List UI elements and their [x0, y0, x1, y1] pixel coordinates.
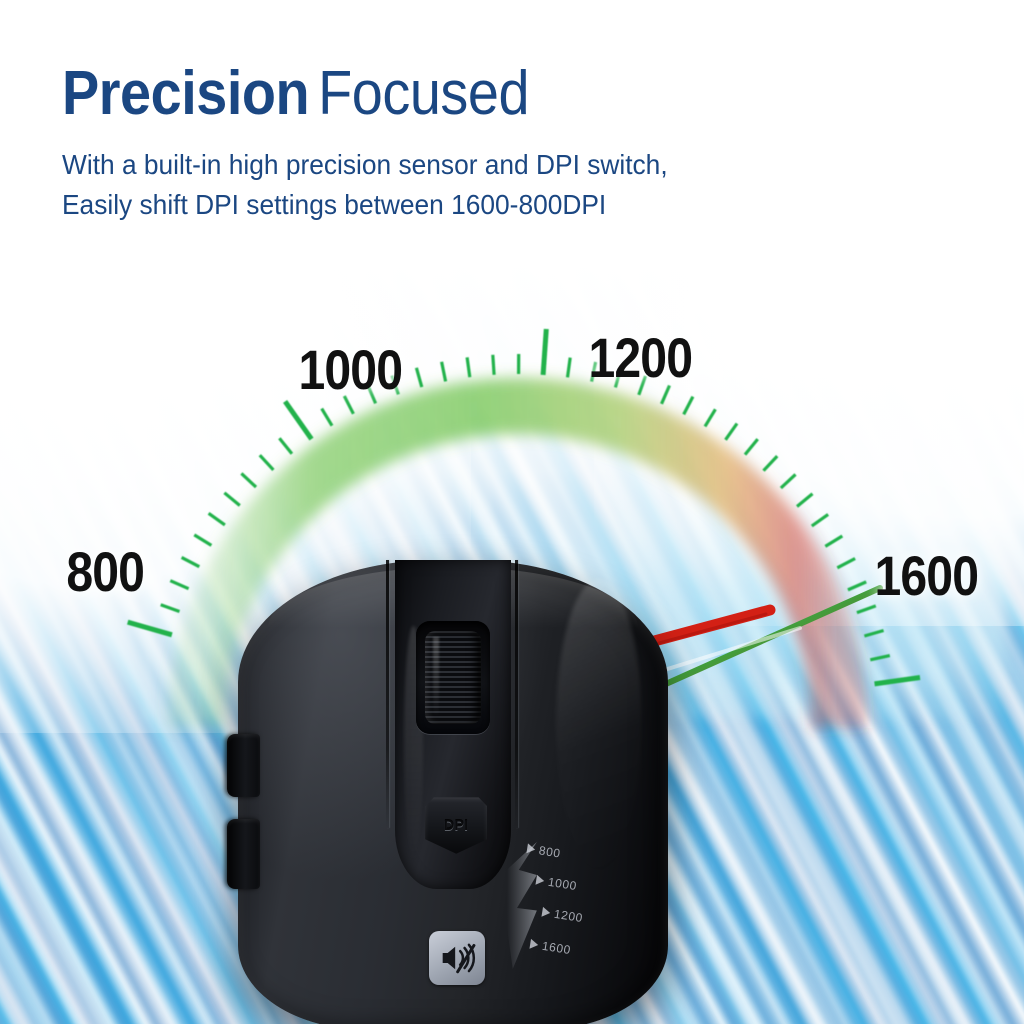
shell-bottom-fade	[238, 976, 668, 1024]
scroll-wheel[interactable]	[425, 631, 481, 724]
speaker-mute-icon	[437, 938, 478, 978]
dpi-step-1000-label: 1000	[547, 875, 578, 893]
side-button-forward[interactable]	[227, 734, 259, 797]
left-button-seam	[386, 560, 389, 828]
header-text-block: PrecisionFocused With a built-in high pr…	[62, 62, 962, 225]
chevron-right-icon	[541, 907, 550, 918]
scroll-wheel-well[interactable]	[416, 621, 489, 734]
headline-strong: Precision	[62, 59, 309, 128]
gauge-label-800: 800	[66, 544, 144, 600]
headline-light: Focused	[318, 59, 529, 128]
dpi-step-800: 800	[527, 842, 563, 861]
dpi-step-1600-label: 1600	[541, 938, 572, 956]
subtitle-line-1: With a built-in high precision sensor an…	[62, 145, 908, 185]
subtitle-line-2: Easily shift DPI settings between 1600-8…	[62, 185, 908, 225]
chevron-right-icon	[527, 844, 536, 855]
dpi-step-800-label: 800	[538, 844, 562, 861]
dpi-step-1600: 1600	[529, 937, 572, 957]
mouse-product: DPI 800 1000 1200 1600	[238, 560, 668, 1024]
side-button-back[interactable]	[227, 819, 259, 890]
page-title: PrecisionFocused	[62, 62, 872, 125]
chevron-right-icon	[530, 938, 539, 949]
gauge-label-1200: 1200	[588, 330, 692, 386]
promo-banner: PrecisionFocused With a built-in high pr…	[0, 0, 1024, 1024]
shell-gloss-highlight	[556, 579, 642, 870]
dpi-scale-print: 800 1000 1200 1600	[522, 844, 664, 966]
chevron-right-icon	[535, 875, 544, 886]
right-button-seam	[515, 560, 518, 828]
dpi-step-1200: 1200	[541, 905, 584, 925]
gauge-label-1000: 1000	[298, 342, 402, 398]
dpi-step-1200-label: 1200	[553, 907, 584, 925]
gauge-label-1600: 1600	[874, 548, 978, 604]
dpi-button-label: DPI	[444, 817, 468, 834]
dpi-step-1000: 1000	[535, 873, 578, 893]
page-subtitle: With a built-in high precision sensor an…	[62, 145, 908, 225]
